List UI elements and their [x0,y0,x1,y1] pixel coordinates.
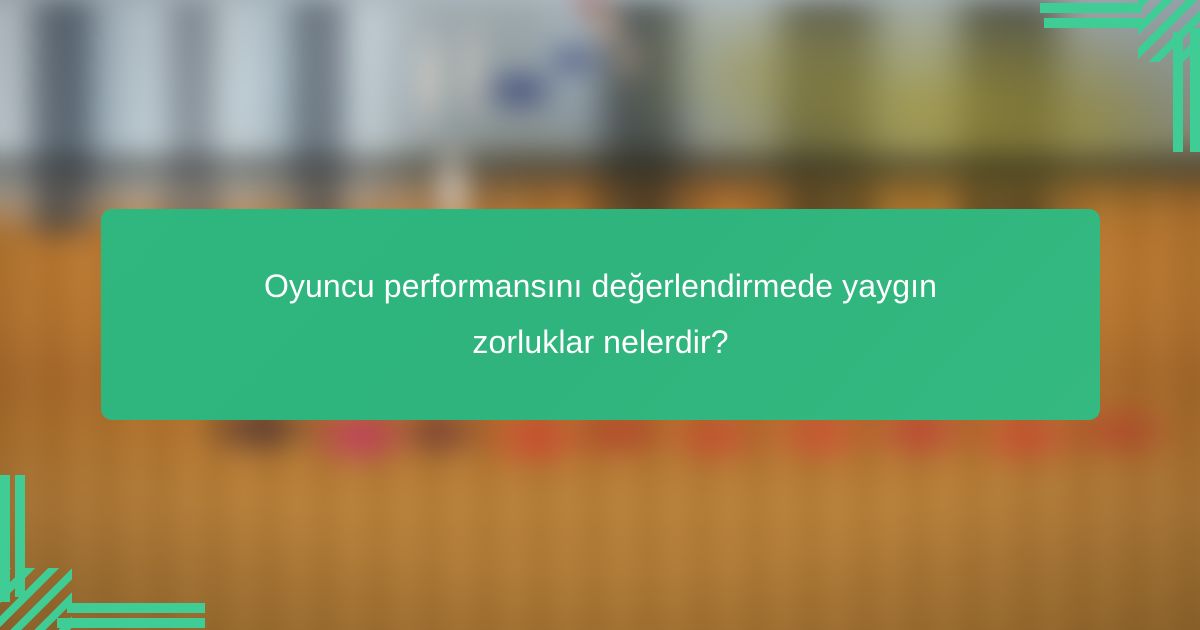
bracket-hatch-top-right [1138,0,1200,62]
social-card-canvas: Oyuncu performansını değerlendirmede yay… [0,0,1200,630]
corner-bracket-top-right [1040,0,1200,152]
corner-bracket-bottom-left [0,475,205,630]
bracket-bar-horizontal-outer [57,618,205,628]
bracket-hatch-bottom-left [0,568,72,630]
question-title: Oyuncu performansını değerlendirmede yay… [231,259,971,369]
bracket-bar-horizontal-inner [67,603,205,613]
bracket-bar-horizontal-inner [1044,18,1142,28]
question-card: Oyuncu performansını değerlendirmede yay… [101,209,1100,420]
bracket-bar-horizontal-outer [1040,3,1142,13]
